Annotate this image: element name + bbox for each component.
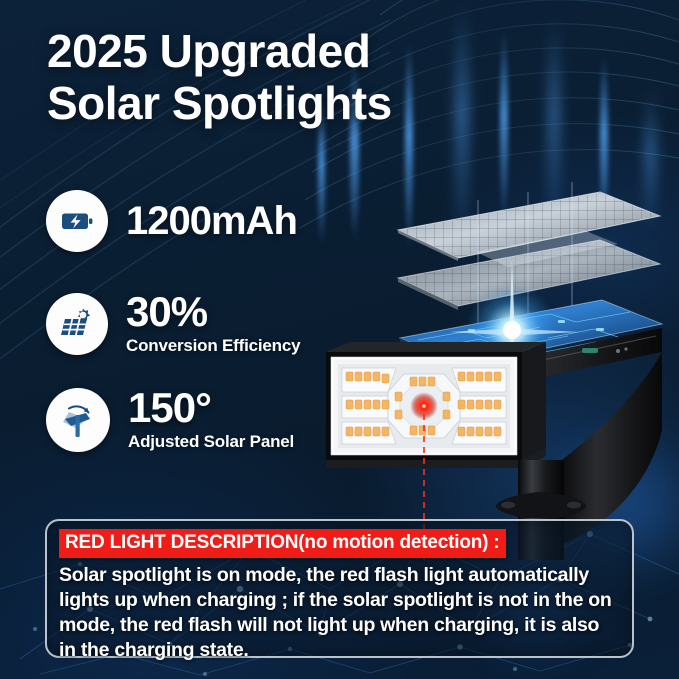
feature-battery: 1200mAh <box>46 190 297 252</box>
product-marketing-image: 2025 Upgraded Solar Spotlights 1200mAh <box>0 0 679 679</box>
page-title: 2025 Upgraded Solar Spotlights <box>47 26 517 129</box>
feature-value: 30% <box>126 291 300 333</box>
solar-panel-sun-icon <box>56 303 98 345</box>
feature-subtitle: Conversion Efficiency <box>126 336 300 356</box>
adjustable-solar-panel-icon <box>56 398 100 442</box>
feature-text: 30% Conversion Efficiency <box>126 291 300 356</box>
product-image <box>300 130 679 560</box>
red-light-description-box: RED LIGHT DESCRIPTION(no motion detectio… <box>45 519 634 658</box>
feature-text: 1200mAh <box>126 201 297 241</box>
feature-value: 1200mAh <box>126 201 297 241</box>
description-header: RED LIGHT DESCRIPTION(no motion detectio… <box>59 529 506 558</box>
feature-icon-badge <box>46 293 108 355</box>
feature-icon-badge <box>46 190 108 252</box>
battery-charging-icon <box>57 201 97 241</box>
feature-adjust-angle: 150° Adjusted Solar Panel <box>46 387 294 452</box>
feature-value: 150° <box>128 387 294 429</box>
feature-subtitle: Adjusted Solar Panel <box>128 432 294 452</box>
status-led-green <box>582 348 598 353</box>
led-panel-head <box>326 342 546 468</box>
feature-icon-badge <box>46 388 110 452</box>
feature-text: 150° Adjusted Solar Panel <box>128 387 294 452</box>
description-body: Solar spotlight is on mode, the red flas… <box>59 563 620 663</box>
feature-efficiency: 30% Conversion Efficiency <box>46 291 300 356</box>
